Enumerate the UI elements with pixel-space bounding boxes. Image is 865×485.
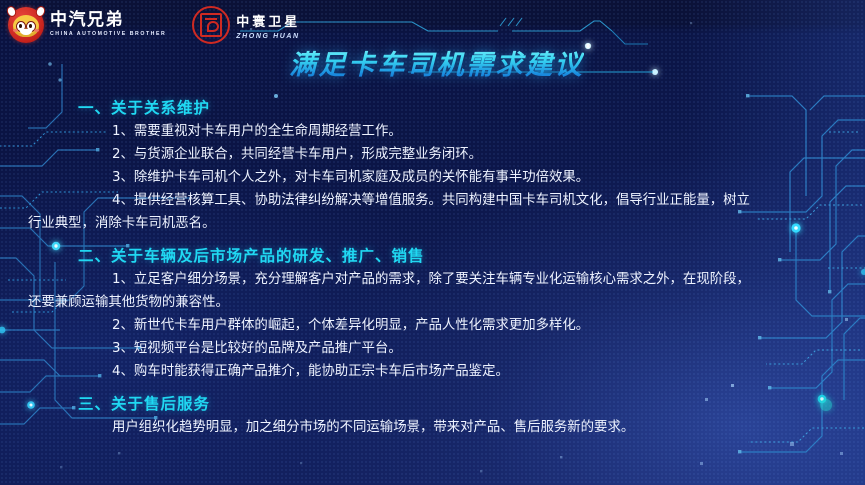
- logo-cn-name: 中寰卫星: [236, 11, 300, 30]
- section-2-item-3: 3、短视频平台是比较好的品牌及产品推广平台。: [112, 337, 857, 360]
- section-2-item-1-continued: 还要兼顾运输其他货物的兼容性。: [28, 291, 857, 314]
- section-1-item-1: 1、需要重视对卡车用户的全生命周期经营工作。: [112, 120, 857, 143]
- section-1-item-3: 3、除维护卡车司机个人之外，对卡车司机家庭及成员的关怀能有事半功倍效果。: [112, 166, 857, 189]
- logo-en-name: CHINA AUTOMOTIVE BROTHER: [50, 32, 166, 37]
- section-1-item-2: 2、与货源企业联合，共同经营卡车用户，形成完整业务闭环。: [112, 143, 857, 166]
- section-heading-1: 一、关于关系维护: [78, 96, 865, 118]
- logo-text-block: 中寰卫星 ZHONG HUAN: [236, 11, 300, 40]
- slide-body: 一、关于关系维护 1、需要重视对卡车用户的全生命周期经营工作。 2、与货源企业联…: [0, 96, 865, 439]
- section-1-item-4: 4、提供经营核算工具、协助法律纠纷解决等增值服务。共同构建中国卡车司机文化，倡导…: [112, 189, 857, 212]
- logo-cn-name: 中汽兄弟: [50, 12, 166, 29]
- presentation-slide: 中汽兄弟 CHINA AUTOMOTIVE BROTHER 中寰卫星 ZHONG…: [0, 0, 865, 485]
- section-1-item-4-continued: 行业典型，消除卡车司机恶名。: [28, 212, 857, 235]
- section-heading-2: 二、关于车辆及后市场产品的研发、推广、销售: [78, 244, 865, 266]
- logo-china-automotive-brother: 中汽兄弟 CHINA AUTOMOTIVE BROTHER: [8, 7, 166, 43]
- seal-stamp-icon: [192, 6, 230, 44]
- section-2-item-4: 4、购车时能获得正确产品推介，能协助正宗卡车后市场产品鉴定。: [112, 360, 857, 383]
- section-3-item-1: 用户组织化趋势明显，加之细分市场的不同运输场景，带来对产品、售后服务新的要求。: [112, 416, 857, 439]
- section-2-item-1: 1、立足客户细分场景，充分理解客户对产品的需求，除了要关注车辆专业化运输核心需求…: [112, 268, 857, 291]
- header-logos: 中汽兄弟 CHINA AUTOMOTIVE BROTHER 中寰卫星 ZHONG…: [8, 6, 300, 44]
- logo-en-name: ZHONG HUAN: [236, 33, 300, 40]
- section-2-item-2: 2、新世代卡车用户群体的崛起，个体差异化明显，产品人性化需求更加多样化。: [112, 314, 857, 337]
- section-heading-3: 三、关于售后服务: [78, 392, 865, 414]
- logo-zhong-huan-satellite: 中寰卫星 ZHONG HUAN: [192, 6, 300, 44]
- logo-text-block: 中汽兄弟 CHINA AUTOMOTIVE BROTHER: [50, 12, 166, 37]
- page-title: 满足卡车司机需求建议: [289, 43, 584, 82]
- mascot-icon: [8, 7, 44, 43]
